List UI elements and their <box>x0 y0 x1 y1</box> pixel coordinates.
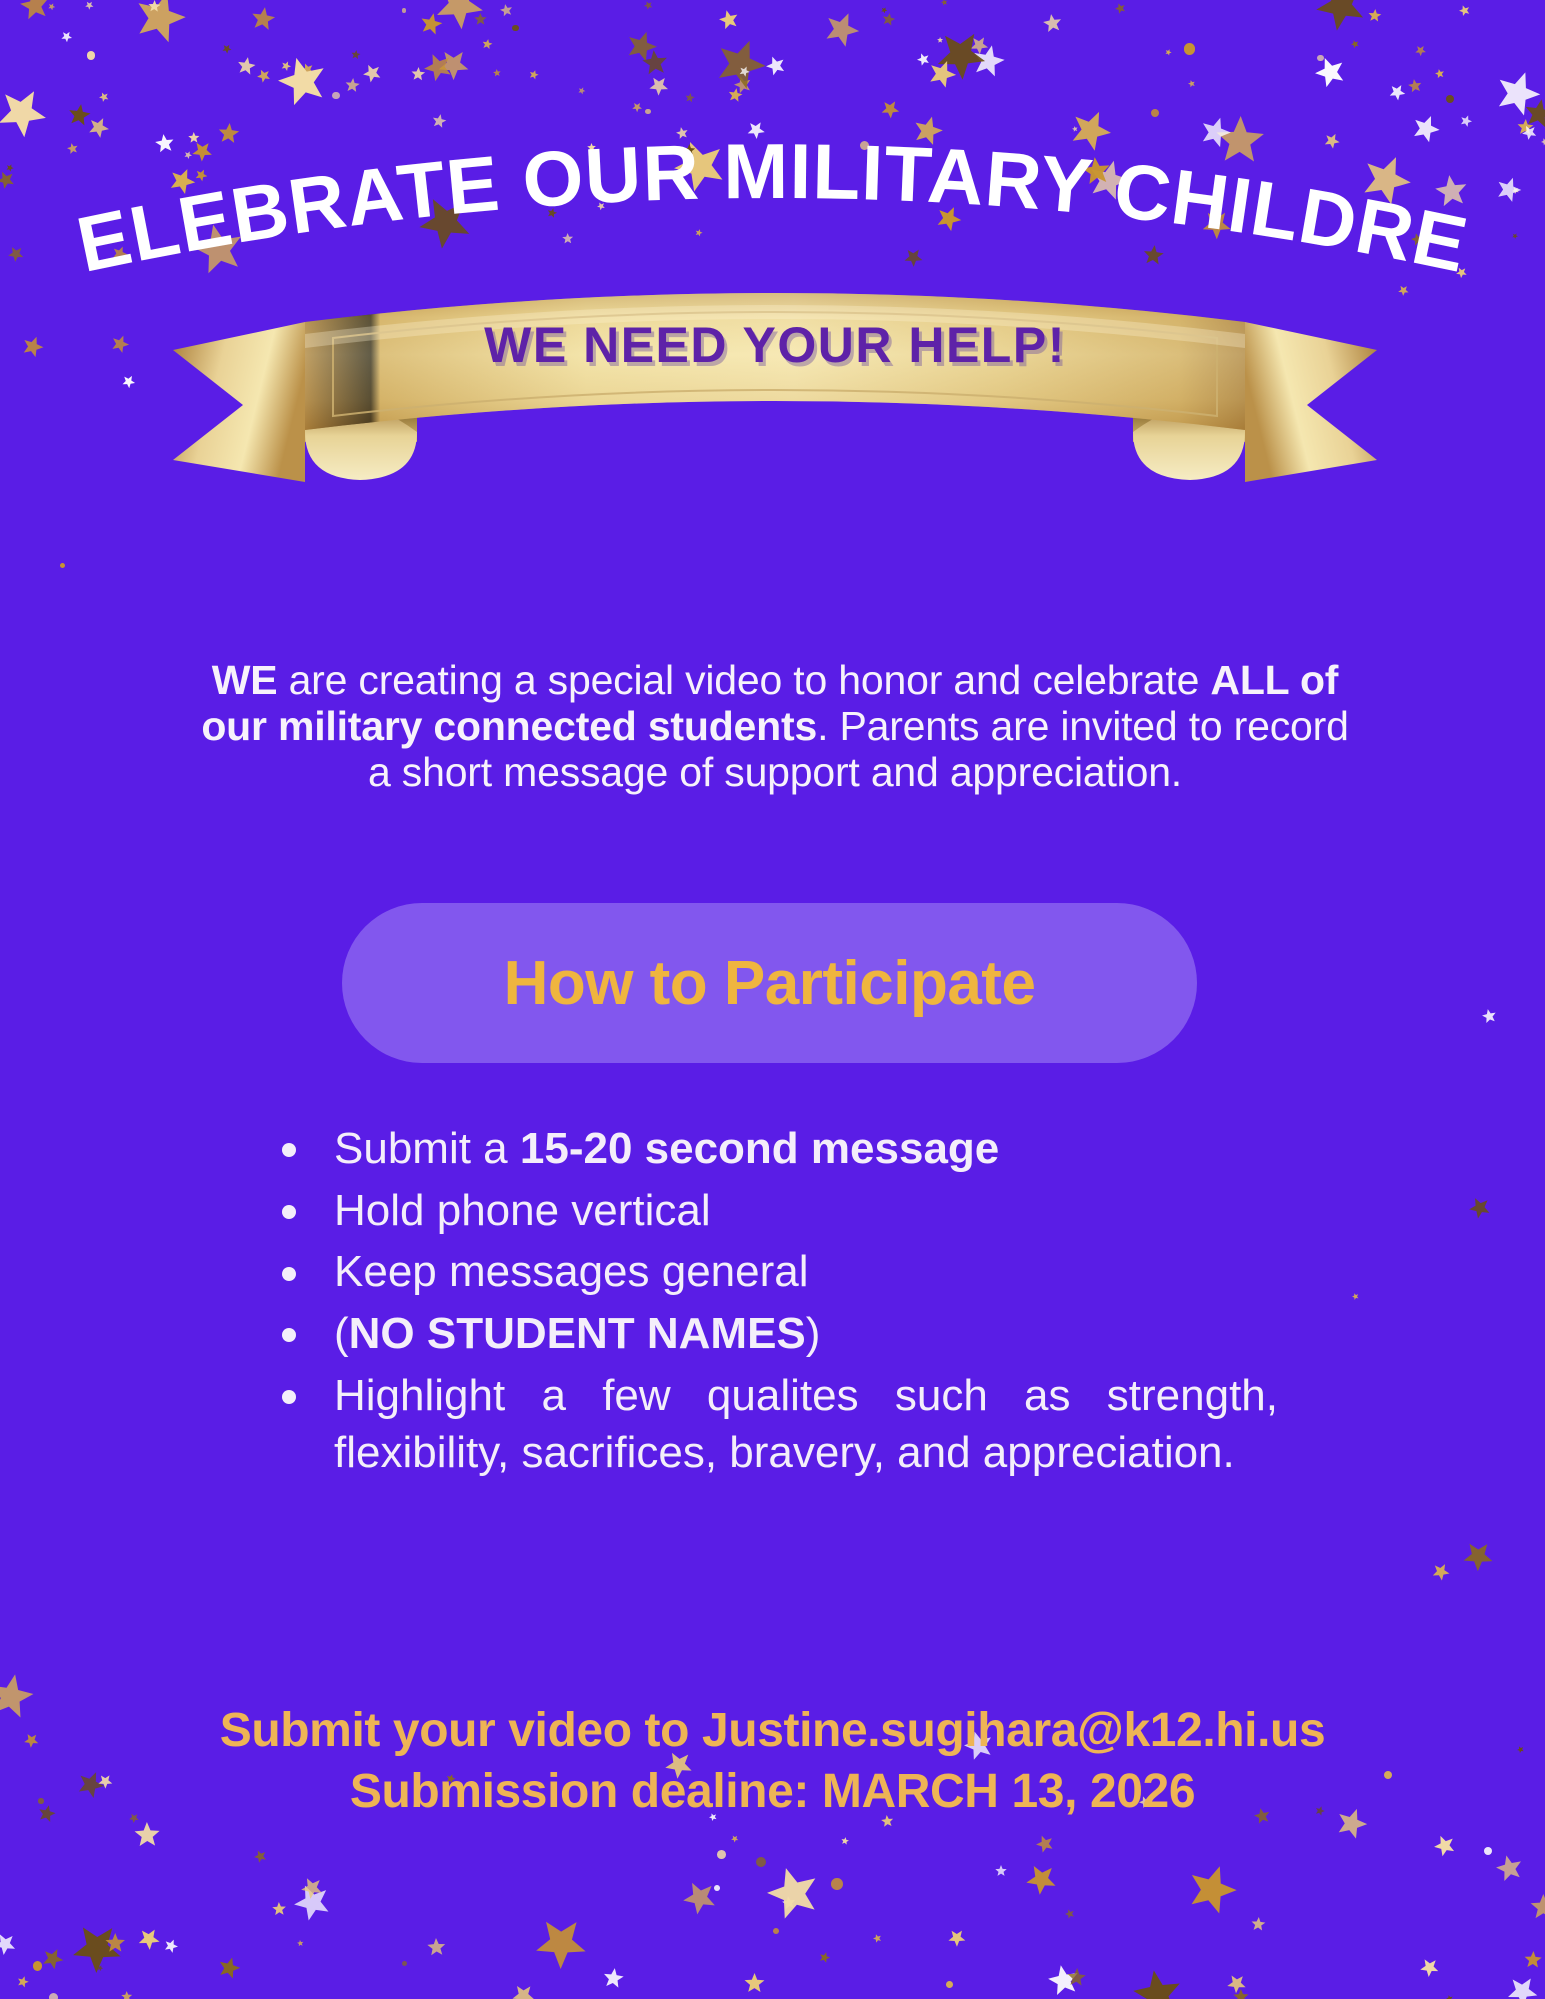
star-icon <box>497 2 515 20</box>
confetti-dot-icon <box>645 109 651 115</box>
star-icon <box>1065 1966 1088 1989</box>
confetti-dot-icon <box>402 1961 407 1966</box>
star-icon <box>474 13 487 26</box>
title-text: CELEBRATE OUR MILITARY CHILDREN <box>0 47 1475 289</box>
star-icon <box>119 1990 133 1999</box>
star-icon <box>162 1937 181 1956</box>
confetti-dot-icon <box>773 1928 779 1934</box>
poster-canvas: CELEBRATE OUR MILITARY CHILDREN <box>0 0 1545 1999</box>
star-icon <box>84 0 95 11</box>
list-item: Submit a 15-20 second message <box>268 1120 1278 1178</box>
star-icon <box>296 1939 305 1948</box>
star-icon <box>524 1907 596 1979</box>
confetti-dot-icon <box>33 1961 42 1970</box>
confetti-dot-icon <box>756 1857 766 1867</box>
confetti-dot-icon <box>512 25 519 32</box>
star-icon <box>1366 7 1384 25</box>
star-icon <box>271 50 335 114</box>
star-icon <box>937 37 943 43</box>
star-icon <box>732 74 755 97</box>
star-icon <box>946 1927 968 1949</box>
gold-ribbon-banner: WE NEED YOUR HELP! <box>155 282 1395 482</box>
star-icon <box>66 1917 128 1979</box>
banner-headline: WE NEED YOUR HELP! <box>155 316 1395 374</box>
star-icon <box>252 1848 269 1865</box>
star-icon <box>766 1866 820 1920</box>
star-icon <box>966 32 992 58</box>
confetti-dot-icon <box>714 1885 720 1891</box>
star-icon <box>1413 44 1427 58</box>
star-icon <box>1312 53 1349 90</box>
how-to-participate-label: How to Participate <box>342 903 1197 1063</box>
star-icon <box>599 1964 627 1992</box>
star-icon <box>1034 1833 1056 1855</box>
star-icon <box>726 85 745 104</box>
star-icon <box>645 72 672 99</box>
list-item: Highlight a few qualites such as strengt… <box>268 1367 1278 1482</box>
title-arc-svg: CELEBRATE OUR MILITARY CHILDREN <box>0 118 1545 308</box>
list-item-text: ( <box>334 1309 349 1358</box>
star-icon <box>1046 1963 1081 1998</box>
star-icon <box>1457 4 1471 18</box>
intro-paragraph: WE are creating a special video to honor… <box>195 658 1355 796</box>
star-icon <box>680 1879 719 1918</box>
star-icon <box>1446 1994 1454 1999</box>
star-icon <box>630 99 644 113</box>
list-item-emphasis: 15-20 second message <box>520 1124 999 1173</box>
star-icon <box>643 0 655 11</box>
star-icon <box>133 0 186 45</box>
confetti-dot-icon <box>717 1850 726 1859</box>
list-item-text-after: ) <box>806 1309 821 1358</box>
intro-text-1: are creating a special video to honor an… <box>277 657 1210 703</box>
star-icon <box>1180 1858 1243 1921</box>
star-icon <box>1520 1948 1545 1973</box>
star-icon <box>1024 1861 1061 1898</box>
star-icon <box>706 29 776 99</box>
star-icon <box>817 1949 832 1964</box>
footer-deadline-line: Submission dealine: MARCH 13, 2026 <box>0 1761 1545 1822</box>
star-icon <box>940 0 949 7</box>
star-icon <box>841 1836 850 1845</box>
star-icon <box>1250 1916 1268 1934</box>
star-icon <box>993 1863 1008 1878</box>
star-icon <box>738 65 751 78</box>
star-icon <box>17 1976 29 1988</box>
star-icon <box>343 75 363 95</box>
ribbon-svg <box>155 282 1395 482</box>
star-icon <box>1041 12 1063 34</box>
confetti-dot-icon <box>60 563 65 568</box>
list-item: (NO STUDENT NAMES) <box>268 1305 1278 1363</box>
star-icon <box>47 2 55 10</box>
star-icon <box>221 43 233 55</box>
list-item: Keep messages general <box>268 1243 1278 1301</box>
confetti-dot-icon <box>946 1981 953 1988</box>
star-icon <box>102 1930 128 1956</box>
star-icon <box>640 48 671 79</box>
star-icon <box>781 1896 797 1912</box>
star-icon <box>280 60 292 72</box>
confetti-dot-icon <box>831 1878 843 1890</box>
star-icon <box>1495 71 1542 118</box>
star-icon <box>1501 1970 1544 1999</box>
star-icon <box>287 1877 339 1929</box>
star-icon <box>1406 77 1425 96</box>
confetti-dot-icon <box>1484 1847 1492 1855</box>
star-icon <box>0 1929 21 1960</box>
confetti-dot-icon <box>1151 109 1159 117</box>
star-icon <box>122 375 136 389</box>
star-icon <box>935 29 988 82</box>
list-item-text: Keep messages general <box>334 1247 809 1296</box>
star-icon <box>1480 1007 1500 1027</box>
star-icon <box>1492 1851 1527 1886</box>
star-icon <box>622 27 660 65</box>
star-icon <box>214 1952 245 1983</box>
star-icon <box>423 51 454 82</box>
list-item-emphasis: NO STUDENT NAMES <box>349 1309 806 1358</box>
confetti-dot-icon <box>49 1993 58 1999</box>
star-icon <box>1429 1560 1452 1583</box>
star-icon <box>508 1979 540 1999</box>
star-icon <box>881 13 896 28</box>
star-icon <box>107 331 132 356</box>
star-icon <box>1350 39 1362 51</box>
star-icon <box>969 41 1008 80</box>
star-icon <box>255 67 273 85</box>
confetti-dot-icon <box>1317 55 1324 62</box>
star-icon <box>1433 67 1446 80</box>
star-icon <box>1233 1989 1249 1999</box>
star-icon <box>98 91 109 102</box>
star-icon <box>1530 1894 1545 1921</box>
star-icon <box>299 61 316 78</box>
list-item-text: Submit a <box>334 1124 520 1173</box>
star-icon <box>134 1822 161 1849</box>
star-icon <box>730 1834 740 1844</box>
star-icon <box>715 6 743 34</box>
page-title: CELEBRATE OUR MILITARY CHILDREN <box>0 118 1545 308</box>
star-icon <box>527 68 540 81</box>
list-item-text: Highlight a few qualites such as strengt… <box>334 1371 1278 1478</box>
star-icon <box>19 333 47 361</box>
star-icon <box>249 5 277 33</box>
confetti-dot-icon <box>402 8 407 13</box>
star-icon <box>1312 0 1369 35</box>
star-icon <box>1351 1292 1361 1302</box>
list-item-text: Hold phone vertical <box>334 1186 711 1235</box>
confetti-dot-icon <box>332 92 339 99</box>
star-icon <box>1459 1537 1497 1575</box>
star-icon <box>819 7 865 53</box>
footer-submit-line: Submit your video to Justine.sugihara@k1… <box>0 1700 1545 1761</box>
star-icon <box>148 0 161 13</box>
confetti-dot-icon <box>1446 95 1454 103</box>
footer-contact: Submit your video to Justine.sugihara@k1… <box>0 1700 1545 1823</box>
star-icon <box>493 69 502 78</box>
star-icon <box>410 67 425 82</box>
star-icon <box>1187 79 1196 88</box>
star-icon <box>40 1946 64 1970</box>
star-icon <box>234 54 259 79</box>
star-icon <box>415 8 446 39</box>
star-icon <box>1065 1909 1075 1919</box>
star-icon <box>480 37 494 51</box>
star-icon <box>762 52 789 79</box>
star-icon <box>349 48 362 61</box>
star-icon <box>872 1933 883 1944</box>
star-icon <box>1387 81 1409 103</box>
star-icon <box>96 1964 105 1973</box>
star-icon <box>18 0 52 23</box>
confetti-dot-icon <box>1184 43 1195 54</box>
star-icon <box>576 86 586 96</box>
star-icon <box>1165 49 1172 56</box>
star-icon <box>1124 1961 1190 1999</box>
star-icon <box>1224 1971 1249 1996</box>
intro-bold-we: WE <box>212 657 278 703</box>
star-icon <box>1433 1834 1457 1858</box>
star-icon <box>1417 1955 1442 1980</box>
star-icon <box>269 1899 289 1919</box>
star-icon <box>684 93 695 104</box>
star-icon <box>1114 2 1127 15</box>
star-icon <box>134 1923 165 1954</box>
star-icon <box>741 1971 767 1997</box>
star-icon <box>59 29 73 43</box>
confetti-dot-icon <box>87 51 95 59</box>
how-to-participate-pill: How to Participate <box>342 903 1197 1063</box>
list-item: Hold phone vertical <box>268 1182 1278 1240</box>
star-icon <box>360 60 386 86</box>
star-icon <box>927 59 957 89</box>
instructions-list: Submit a 15-20 second messageHold phone … <box>268 1120 1278 1486</box>
star-icon <box>432 43 476 87</box>
star-icon <box>426 0 492 38</box>
star-icon <box>880 7 887 14</box>
star-icon <box>1464 1193 1495 1224</box>
star-icon <box>423 1934 449 1960</box>
star-icon <box>914 51 932 69</box>
star-icon <box>297 1872 328 1903</box>
